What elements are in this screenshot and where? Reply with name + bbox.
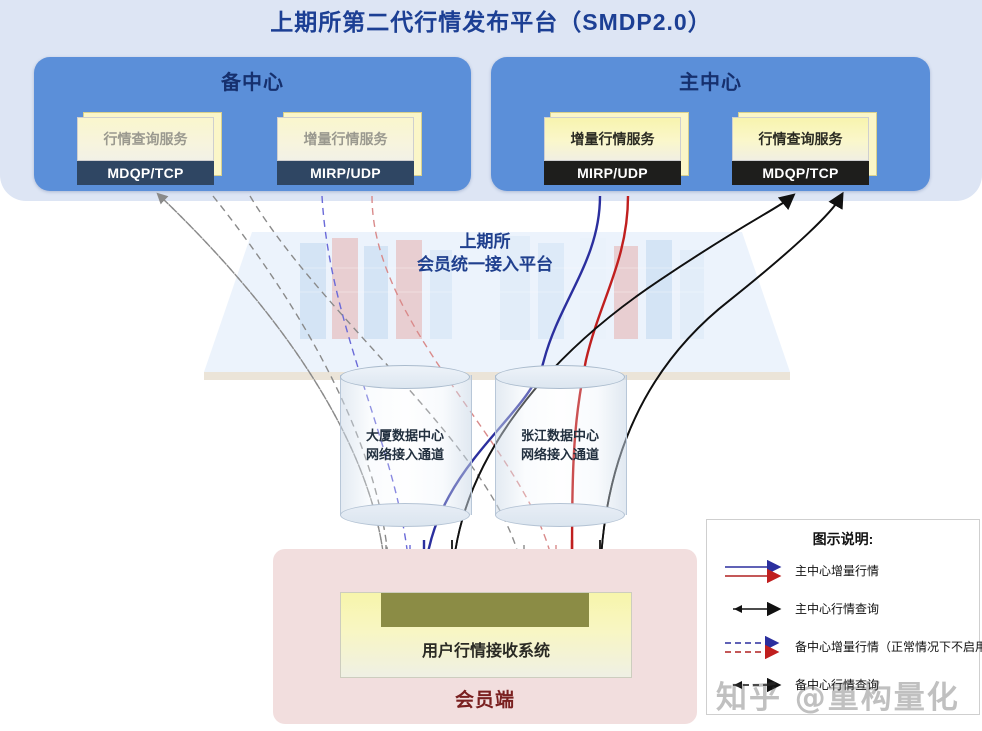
backup-service-mdqp-name: 行情查询服务 xyxy=(77,117,214,161)
main-service-mdqp[interactable]: 行情查询服务 MDQP/TCP xyxy=(732,117,869,185)
channel-dasha-line-1: 大厦数据中心 xyxy=(366,428,444,443)
legend-label-backup-incremental: 备中心增量行情（正常情况下不启用） xyxy=(795,638,982,655)
backup-service-mirp[interactable]: 增量行情服务 MIRP/UDP xyxy=(277,117,414,185)
legend-title: 图示说明: xyxy=(707,529,979,549)
main-service-mirp-protocol: MIRP/UDP xyxy=(544,161,681,185)
backup-service-mdqp-protocol: MDQP/TCP xyxy=(77,161,214,185)
platform-line-2: 会员统一接入平台 xyxy=(417,255,553,274)
watermark: 知乎 @重构量化 xyxy=(716,672,982,716)
page-title: 上期所第二代行情发布平台（SMDP2.0） xyxy=(0,2,982,38)
channel-cylinder-zhangjiang: 张江数据中心 网络接入通道 xyxy=(495,365,625,525)
backup-service-mirp-protocol: MIRP/UDP xyxy=(277,161,414,185)
access-platform: 上期所 会员统一接入平台 xyxy=(175,215,795,395)
platform-line-1: 上期所 xyxy=(460,232,511,251)
user-receiver-system[interactable]: 用户行情接收系统 xyxy=(340,592,632,678)
receiver-top-band xyxy=(381,593,589,627)
user-receiver-system-label: 用户行情接收系统 xyxy=(341,637,631,661)
legend-item-main-incremental: 主中心增量行情 xyxy=(723,558,979,584)
legend-item-main-query: 主中心行情查询 xyxy=(723,596,979,622)
backup-service-mdqp[interactable]: 行情查询服务 MDQP/TCP xyxy=(77,117,214,185)
legend-item-backup-incremental: 备中心增量行情（正常情况下不启用） xyxy=(723,634,979,660)
backup-service-mirp-name: 增量行情服务 xyxy=(277,117,414,161)
cylinder-top xyxy=(495,365,625,389)
channel-label-dasha: 大厦数据中心 网络接入通道 xyxy=(340,427,470,465)
legend-label-main-query: 主中心行情查询 xyxy=(795,600,879,617)
channel-zhangjiang-line-2: 网络接入通道 xyxy=(521,447,599,462)
main-center-title: 主中心 xyxy=(491,66,930,95)
member-section-label: 会员端 xyxy=(273,685,697,712)
backup-center-title: 备中心 xyxy=(34,66,471,95)
channel-label-zhangjiang: 张江数据中心 网络接入通道 xyxy=(495,427,625,465)
channel-cylinder-dasha: 大厦数据中心 网络接入通道 xyxy=(340,365,470,525)
legend-icon-dashed-double-arrow xyxy=(723,634,787,660)
main-service-mdqp-name: 行情查询服务 xyxy=(732,117,869,161)
legend-icon-bidirectional-arrow xyxy=(723,596,787,622)
legend-label-main-incremental: 主中心增量行情 xyxy=(795,562,879,579)
member-section: 用户行情接收系统 会员端 xyxy=(273,549,697,724)
access-platform-label: 上期所 会员统一接入平台 xyxy=(175,231,795,277)
cylinder-bottom xyxy=(340,503,470,527)
channel-zhangjiang-line-1: 张江数据中心 xyxy=(521,428,599,443)
main-service-mirp[interactable]: 增量行情服务 MIRP/UDP xyxy=(544,117,681,185)
main-service-mirp-name: 增量行情服务 xyxy=(544,117,681,161)
legend-icon-solid-double-arrow xyxy=(723,558,787,584)
channel-dasha-line-2: 网络接入通道 xyxy=(366,447,444,462)
main-service-mdqp-protocol: MDQP/TCP xyxy=(732,161,869,185)
cylinder-top xyxy=(340,365,470,389)
cylinder-bottom xyxy=(495,503,625,527)
